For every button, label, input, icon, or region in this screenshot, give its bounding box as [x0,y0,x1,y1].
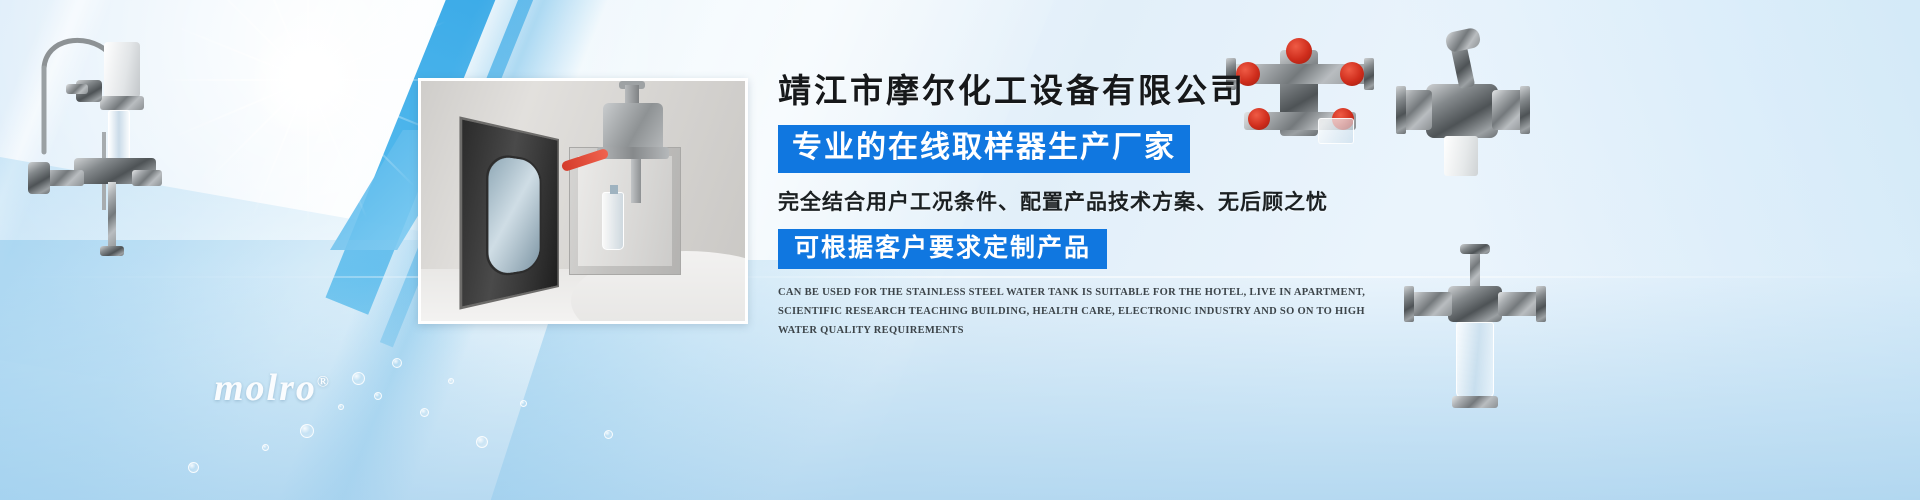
product-photo [418,78,748,324]
bubble-decoration [448,378,454,384]
bubble-decoration [262,444,269,451]
bubble-decoration [520,400,527,407]
registered-trademark-icon: ® [317,373,331,390]
banner-text-block: 靖江市摩尔化工设备有限公司 专业的在线取样器生产厂家 完全结合用户工况条件、配置… [778,72,1418,341]
bubble-decoration [188,462,199,473]
brand-logo: molro® [214,366,331,410]
bubble-decoration [420,408,429,417]
photo-door-window [486,152,542,279]
bubble-decoration [338,404,344,410]
product-inline-sampler [1404,244,1554,434]
photo-cabinet-door [459,116,559,309]
promotional-banner: 靖江市摩尔化工设备有限公司 专业的在线取样器生产厂家 完全结合用户工况条件、配置… [0,0,1920,500]
english-description: CAN BE USED FOR THE STAINLESS STEEL WATE… [778,283,1386,341]
product-sampler-assembly-left [16,20,166,280]
bubble-decoration [476,436,488,448]
bubble-decoration [374,392,382,400]
photo-cabinet-body [569,147,681,275]
photo-sample-bottle [602,192,624,250]
valve-handwheel-red [1286,38,1312,64]
primary-headline: 专业的在线取样器生产厂家 [778,125,1190,173]
photo-cabinet-interior [578,156,672,266]
subheadline: 完全结合用户工况条件、配置产品技术方案、无后顾之忧 [778,186,1418,216]
bubble-decoration [300,424,314,438]
bubble-decoration [352,372,365,385]
company-name: 靖江市摩尔化工设备有限公司 [778,72,1418,113]
secondary-headline: 可根据客户要求定制产品 [778,229,1107,269]
bubble-decoration [604,430,613,439]
photo-pipe [631,155,641,203]
brand-logo-text: molro [214,367,317,409]
bubble-decoration [392,358,402,368]
